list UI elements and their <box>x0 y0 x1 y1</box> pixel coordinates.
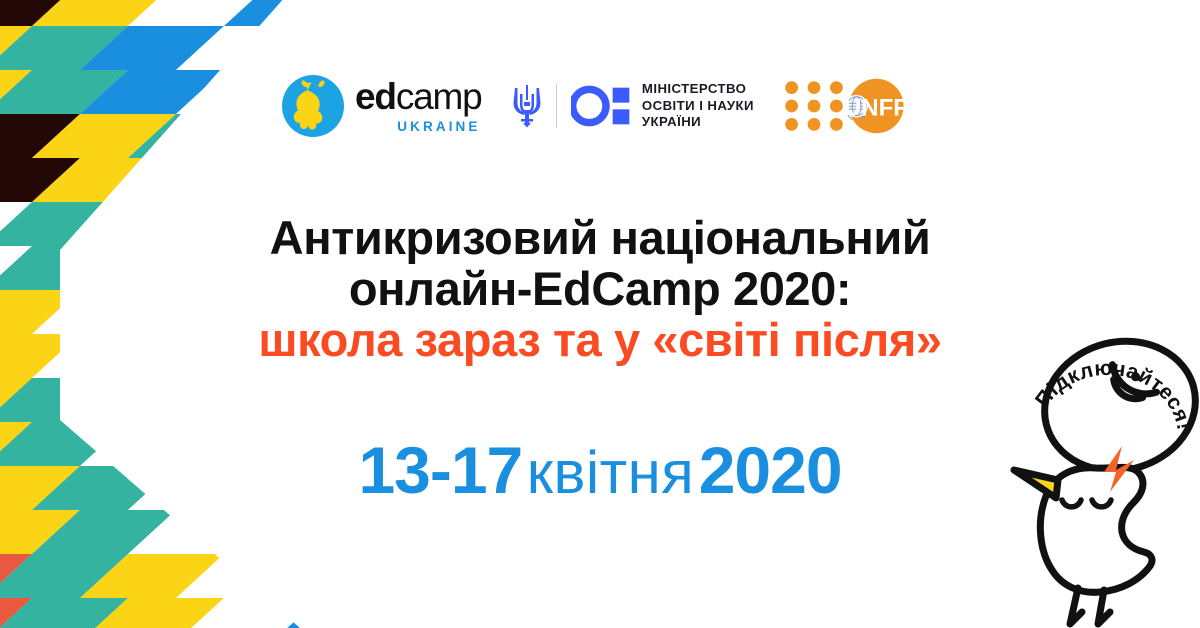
ministry-line-3: УКРАЇНИ <box>642 114 754 131</box>
poster-canvas: edcamp UKRAINE <box>0 0 1200 628</box>
partner-logo-strip: edcamp UKRAINE <box>0 68 1200 144</box>
bird-body <box>1014 446 1152 624</box>
ministry-line-2: ОСВІТИ І НАУКИ <box>642 98 754 115</box>
date-range: 13-17 <box>358 433 522 507</box>
edcamp-ukraine-logo[interactable]: edcamp UKRAINE <box>282 75 481 137</box>
ministry-name-text: МІНІСТЕРСТВО ОСВІТИ І НАУКИ УКРАЇНИ <box>642 81 754 132</box>
date-year: 2020 <box>699 433 842 507</box>
unfpa-logo[interactable]: UNFPA <box>782 78 918 134</box>
headline-line-1: Антикризовий національний <box>0 212 1200 263</box>
edcamp-wordmark: edcamp <box>355 78 481 115</box>
ukraine-tryzub-icon <box>512 84 542 128</box>
mon-o-mark-icon <box>571 85 631 127</box>
edcamp-wordmark-light: camp <box>396 76 482 117</box>
edcamp-flame-mark-icon <box>282 75 344 137</box>
edcamp-subtitle: UKRAINE <box>397 120 480 134</box>
ministry-line-1: МІНІСТЕРСТВО <box>642 81 754 98</box>
edcamp-wordmark-group: edcamp UKRAINE <box>355 78 481 134</box>
ministry-of-education-logo[interactable]: МІНІСТЕРСТВО ОСВІТИ І НАУКИ УКРАЇНИ <box>512 81 754 132</box>
unfpa-wordmark: UNFPA <box>844 95 918 122</box>
unfpa-dot-grid-icon <box>785 81 843 131</box>
edcamp-wordmark-bold: ed <box>355 76 396 117</box>
headline-line-2: онлайн-EdCamp 2020: <box>0 263 1200 314</box>
bird-beak <box>1014 470 1058 498</box>
edcamp-bird-mascot <box>1000 330 1200 628</box>
date-month: квітня <box>527 439 695 506</box>
logo-divider <box>556 84 557 128</box>
